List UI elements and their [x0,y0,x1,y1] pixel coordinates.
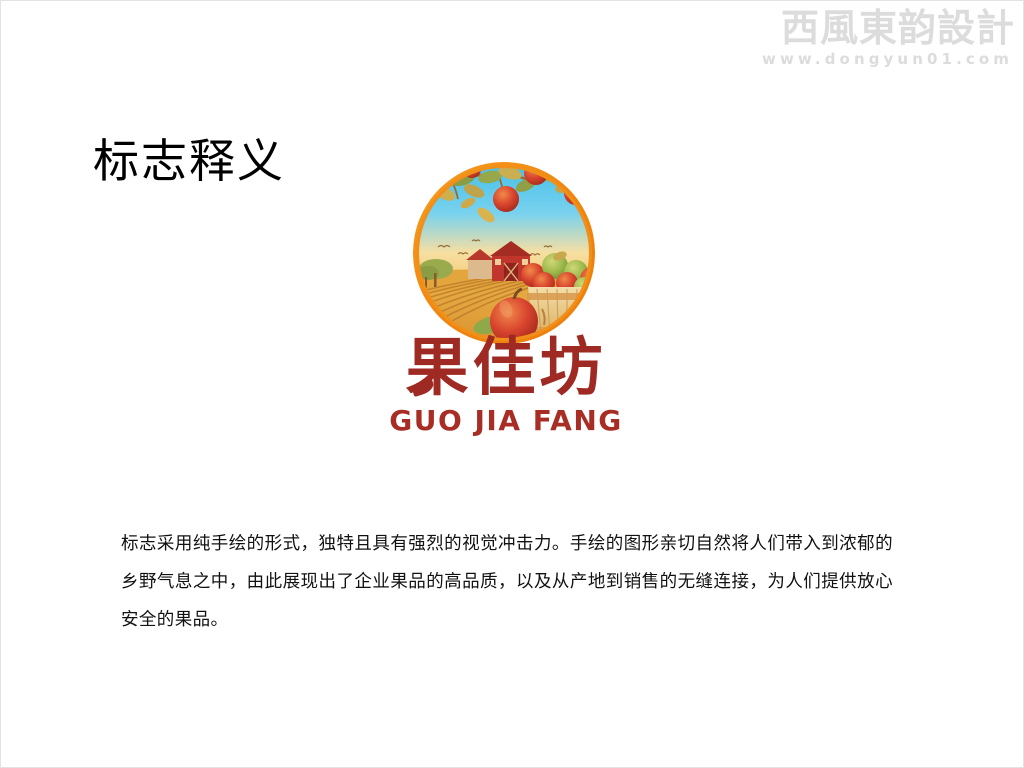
logo-description: 标志采用纯手绘的形式，独特且具有强烈的视觉冲击力。手绘的图形亲切自然将人们带入到… [121,525,893,639]
logo-wordmark: 果佳坊 GUO JIA FANG [371,333,641,437]
presentation-slide: 西風東韵設計 www.dongyun01.com 标志释义 [0,0,1024,768]
logo-description-text: 标志采用纯手绘的形式，独特且具有强烈的视觉冲击力。手绘的图形亲切自然将人们带入到… [121,525,893,639]
logo-name-cjk: 果佳坊 [406,333,607,403]
page-title: 标志释义 [93,133,285,189]
logo-block: 果佳坊 GUO JIA FANG [371,151,641,451]
watermark: 西風東韵設計 www.dongyun01.com [695,7,1015,69]
watermark-url-text: www.dongyun01.com [695,49,1015,69]
logo-name-cjk-text: 果佳坊 [406,331,607,404]
watermark-brand-text: 西風東韵設計 [695,7,1015,49]
logo-mark-circular-illustration [410,159,598,347]
logo-name-latin: GUO JIA FANG [371,405,641,437]
